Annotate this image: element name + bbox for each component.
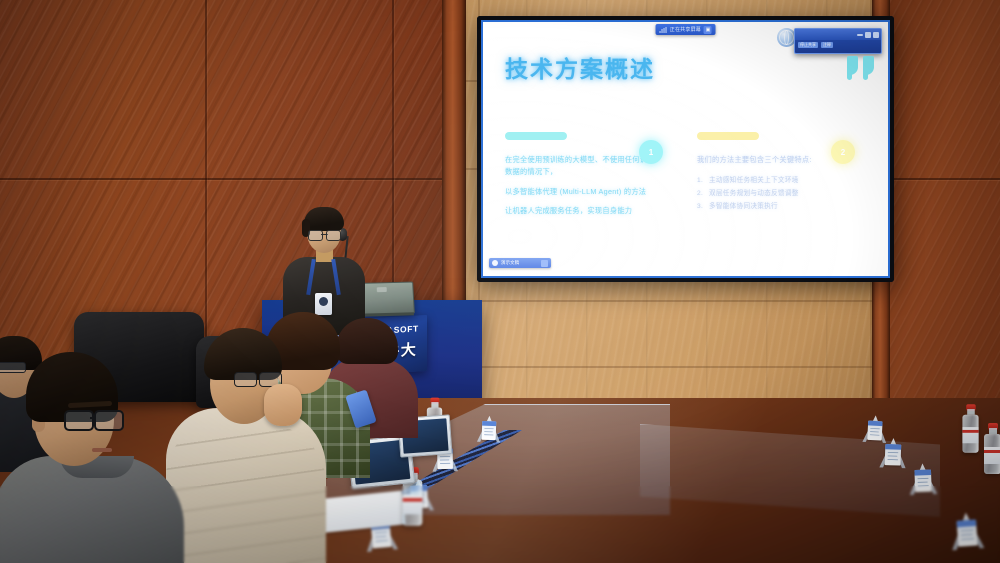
item-text: 双层任务规划与动态反馈调整 — [709, 190, 799, 197]
quote-marks-icon — [847, 56, 874, 75]
presentation-status-widget[interactable]: 演示文稿 — [489, 258, 551, 268]
slide-column-right: 我们的方法主要包含三个关键特点: 1.主动感知任务相关上下文环境 2.双层任务规… — [697, 132, 847, 214]
left-para-2: 以多智能体代理 (Multi-LLM Agent) 的方法 — [505, 186, 655, 198]
screen-share-label: 正在共享屏幕 — [670, 26, 701, 33]
signal-bars-icon — [659, 27, 667, 33]
close-icon[interactable] — [873, 32, 879, 38]
minimize-icon[interactable] — [857, 34, 863, 36]
presentation-display[interactable]: 正在共享屏幕 ▣ 停止共享 注释 技术方案概述 — [477, 16, 894, 282]
list-item: 3.多智能体协同决策执行 — [697, 201, 847, 214]
left-para-3: 让机器人完成服务任务，实现自身能力 — [505, 205, 655, 217]
laptop-logo — [377, 287, 387, 292]
presenter-hair — [304, 207, 344, 231]
list-item: 1.主动感知任务相关上下文环境 — [697, 175, 847, 188]
conference-room-scene: 正在共享屏幕 ▣ 停止共享 注释 技术方案概述 — [0, 0, 1000, 563]
hand — [264, 384, 302, 426]
attendee-cream-jacket — [176, 328, 316, 563]
name-card-holder — [909, 463, 938, 495]
water-bottle — [962, 405, 978, 453]
screen-share-toolbar[interactable]: 正在共享屏幕 ▣ — [655, 24, 716, 35]
right-heading: 我们的方法主要包含三个关键特点: — [697, 154, 847, 166]
attendee-grey-sweater — [16, 352, 166, 563]
item-number: 3. — [697, 201, 709, 214]
record-dot-icon — [492, 260, 498, 266]
list-item: 2.双层任务规划与动态反馈调整 — [697, 188, 847, 201]
square-icon[interactable] — [541, 260, 548, 267]
item-text: 多智能体协同决策执行 — [709, 203, 778, 210]
name-card — [957, 520, 978, 547]
badge-two: 2 — [831, 140, 855, 164]
share-icon[interactable]: ▣ — [704, 26, 712, 34]
maximize-icon[interactable] — [865, 32, 871, 38]
glasses-icon — [64, 410, 120, 427]
badge-one: 1 — [639, 140, 663, 164]
name-card-holder — [950, 512, 985, 551]
name-card — [914, 470, 931, 493]
item-number: 2. — [697, 188, 709, 201]
presentation-status-label: 演示文稿 — [501, 260, 538, 266]
water-bottle — [984, 424, 1000, 474]
window-titlebar[interactable] — [795, 29, 881, 40]
name-card-holder — [879, 438, 906, 469]
slide-title: 技术方案概述 — [505, 50, 655, 84]
stop-share-chip[interactable]: 停止共享 — [798, 42, 818, 48]
glasses-icon — [234, 372, 280, 385]
accent-bar-cyan — [505, 132, 567, 140]
accent-bar-yellow — [697, 132, 759, 140]
slide-canvas[interactable]: 正在共享屏幕 ▣ 停止共享 注释 技术方案概述 — [483, 22, 888, 276]
item-text: 主动感知任务相关上下文环境 — [709, 177, 799, 184]
key-feature-list: 1.主动感知任务相关上下文环境 2.双层任务规划与动态反馈调整 3.多智能体协同… — [697, 175, 847, 214]
item-number: 1. — [697, 175, 709, 188]
name-card-holder — [477, 415, 501, 442]
column-right-text: 我们的方法主要包含三个关键特点: 1.主动感知任务相关上下文环境 2.双层任务规… — [697, 154, 847, 214]
left-para-1: 在完全使用预训练的大模型、不使用任何训练数据的情况下， — [505, 154, 655, 179]
presenter-glasses-icon — [308, 230, 341, 239]
slide-column-left: 在完全使用预训练的大模型、不使用任何训练数据的情况下， 以多智能体代理 (Mul… — [505, 132, 655, 225]
annotate-chip[interactable]: 注释 — [821, 42, 833, 48]
name-card — [885, 444, 902, 466]
window-body: 停止共享 注释 — [795, 40, 881, 50]
column-left-text: 在完全使用预训练的大模型、不使用任何训练数据的情况下， 以多智能体代理 (Mul… — [505, 154, 655, 218]
name-card — [482, 421, 497, 440]
floating-app-window[interactable]: 停止共享 注释 — [794, 28, 882, 54]
